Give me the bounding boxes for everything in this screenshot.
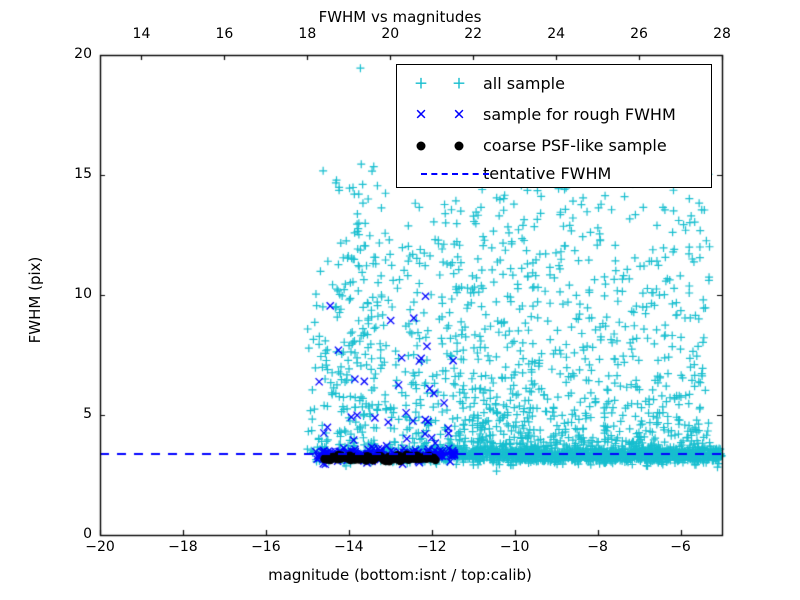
x-top-tick-label: 20 [360, 26, 420, 42]
x-top-tick-label: 16 [194, 26, 254, 42]
dashed-line-icon [421, 173, 489, 175]
cross-icon: ✕ [453, 107, 466, 122]
x-top-tick-label: 18 [277, 26, 337, 42]
legend-marker-tentative-fwhm [397, 158, 483, 189]
x-tick-label: −8 [568, 539, 628, 555]
legend-box: + + all sample ✕ ✕ sample for rough FWHM… [396, 64, 712, 188]
legend-marker-rough-fwhm: ✕ ✕ [397, 99, 483, 130]
x-tick-label: −14 [319, 539, 379, 555]
page-title: FWHM vs magnitudes [0, 8, 800, 26]
legend-marker-all-sample: + + [397, 68, 483, 99]
y-tick-label: 5 [46, 406, 92, 422]
plus-icon: + [452, 75, 466, 92]
legend-label-coarse-psf: coarse PSF-like sample [483, 136, 667, 155]
legend-item-all-sample: + + all sample [397, 68, 713, 99]
legend-label-rough-fwhm: sample for rough FWHM [483, 105, 676, 124]
legend-marker-coarse-psf [397, 130, 483, 161]
x-tick-label: −6 [651, 539, 711, 555]
x-tick-label: −16 [236, 539, 296, 555]
legend-label-tentative-fwhm: tentative FWHM [483, 164, 611, 183]
y-tick-label: 10 [46, 286, 92, 302]
legend-item-tentative-fwhm: tentative FWHM [397, 158, 713, 189]
legend-label-all-sample: all sample [483, 74, 565, 93]
y-tick-label: 20 [46, 46, 92, 62]
x-top-tick-label: 24 [526, 26, 586, 42]
x-top-tick-label: 28 [692, 26, 752, 42]
y-tick-label: 15 [46, 166, 92, 182]
cross-icon: ✕ [415, 107, 428, 122]
y-axis-label: FWHM (pix) [26, 60, 44, 540]
legend-item-coarse-psf: coarse PSF-like sample [397, 130, 713, 161]
x-tick-label: −18 [153, 539, 213, 555]
plus-icon: + [414, 75, 428, 92]
x-axis-label: magnitude (bottom:isnt / top:calib) [0, 566, 800, 584]
x-top-tick-label: 26 [609, 26, 669, 42]
x-tick-label: −10 [485, 539, 545, 555]
circle-icon [417, 141, 426, 150]
x-top-tick-label: 22 [443, 26, 503, 42]
x-top-tick-label: 14 [111, 26, 171, 42]
legend-item-rough-fwhm: ✕ ✕ sample for rough FWHM [397, 99, 713, 130]
y-tick-label: 0 [46, 526, 92, 542]
figure-canvas: FWHM vs magnitudes magnitude (bottom:isn… [0, 0, 800, 600]
x-tick-label: −12 [402, 539, 462, 555]
circle-icon [455, 141, 464, 150]
